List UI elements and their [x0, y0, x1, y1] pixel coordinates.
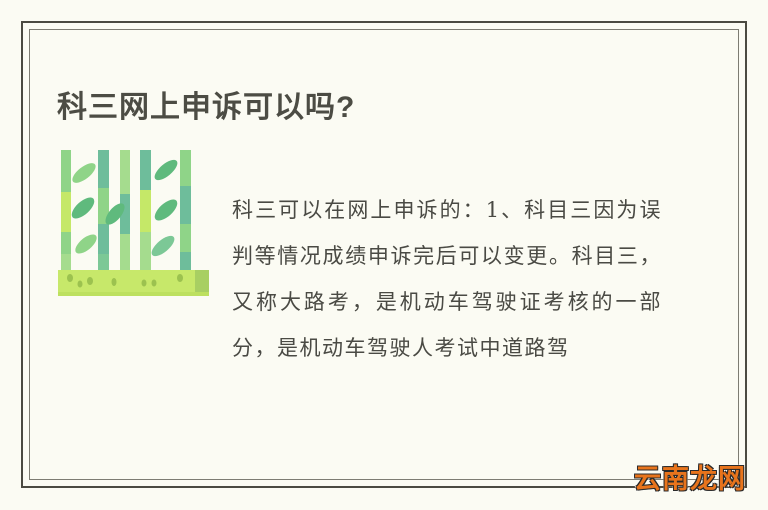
bamboo-illustration — [56, 148, 211, 298]
site-watermark: 云南龙网 — [634, 457, 746, 496]
article-page: 科三网上申诉可以吗? — [0, 0, 768, 510]
article-body-text: 科三可以在网上申诉的：1、科目三因为误判等情况成绩申诉完后可以变更。科目三，又称… — [232, 187, 662, 371]
article-content: 科三网上申诉可以吗? — [0, 0, 768, 510]
page-title: 科三网上申诉可以吗? — [57, 88, 355, 128]
